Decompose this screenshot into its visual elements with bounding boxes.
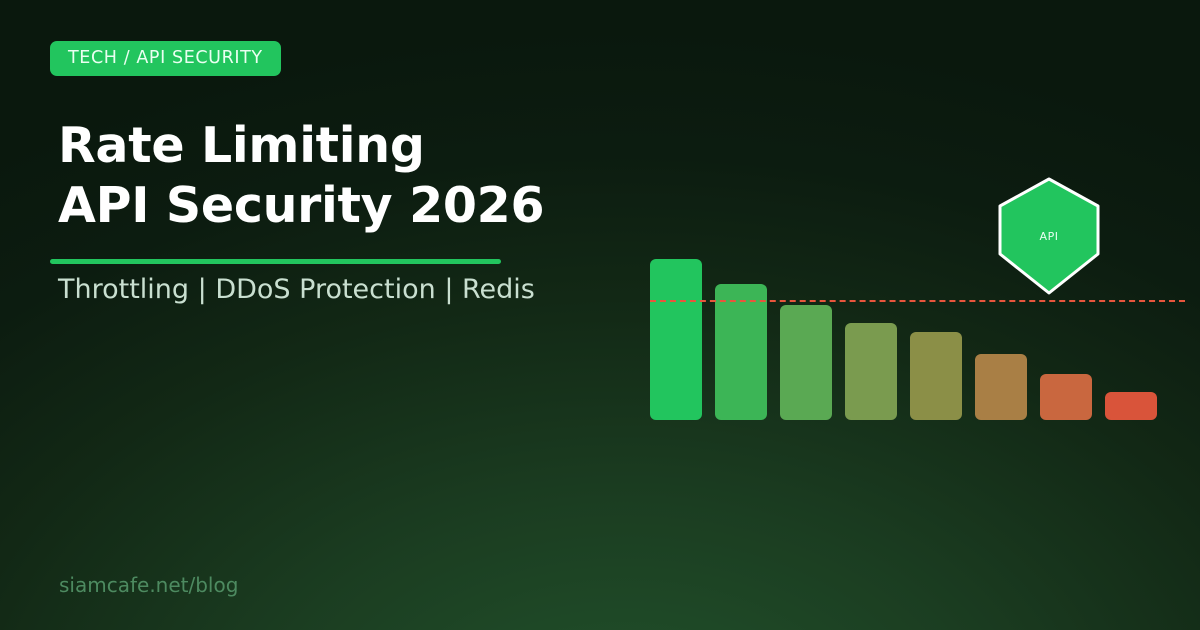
api-hexagon-badge: API — [997, 176, 1101, 296]
chart-bar — [910, 332, 962, 420]
threshold-line — [650, 300, 1185, 302]
chart-bar — [715, 284, 767, 420]
category-badge-label: TECH / API SECURITY — [68, 50, 263, 68]
subtitle: Throttling | DDoS Protection | Redis — [58, 273, 535, 307]
chart-bar — [845, 323, 897, 420]
chart-bar — [1105, 392, 1157, 420]
chart-bar — [1040, 374, 1092, 420]
footer-url: siamcafe.net/blog — [59, 572, 238, 598]
chart-bar — [650, 259, 702, 420]
chart-bar — [975, 354, 1027, 420]
category-badge: TECH / API SECURITY — [50, 41, 281, 76]
page-title-line-2: API Security 2026 — [58, 176, 658, 236]
accent-divider — [50, 259, 501, 264]
hexagon-shield-icon — [997, 176, 1101, 296]
chart-bar — [780, 305, 832, 420]
rate-limit-chart: API — [640, 160, 1185, 430]
poster-canvas: TECH / API SECURITY Rate Limiting API Se… — [0, 0, 1200, 630]
page-title-line-1: Rate Limiting — [58, 116, 658, 176]
page-title: Rate Limiting API Security 2026 — [58, 116, 658, 236]
